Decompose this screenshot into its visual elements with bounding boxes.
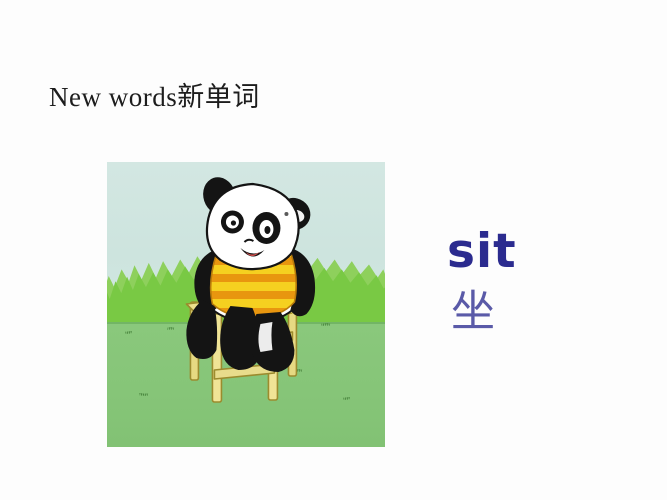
- panda-sitting-illustration: “″ˮ ˮ″“″ ″ˮ″ “″ˮ″ ″ˮ″ “″ˮ: [107, 162, 385, 447]
- vocabulary-english-word: sit: [447, 226, 607, 278]
- panda-eye-right: [252, 212, 280, 244]
- slide-canvas: New words新单词 “″ˮ ˮ″“″ ″ˮ″ “″ˮ″ ″ˮ″ “″ˮ: [0, 0, 667, 500]
- vocabulary-chinese-word: 坐: [451, 284, 607, 340]
- panda-eye-left: [221, 211, 244, 234]
- panda-character: [160, 174, 346, 424]
- grass-tuft-icon: ˮ″“″: [139, 394, 147, 400]
- grass-tuft-icon: “″ˮ: [125, 332, 131, 338]
- vocabulary-word-block: sit 坐: [447, 226, 607, 340]
- page-title: New words新单词: [49, 80, 260, 114]
